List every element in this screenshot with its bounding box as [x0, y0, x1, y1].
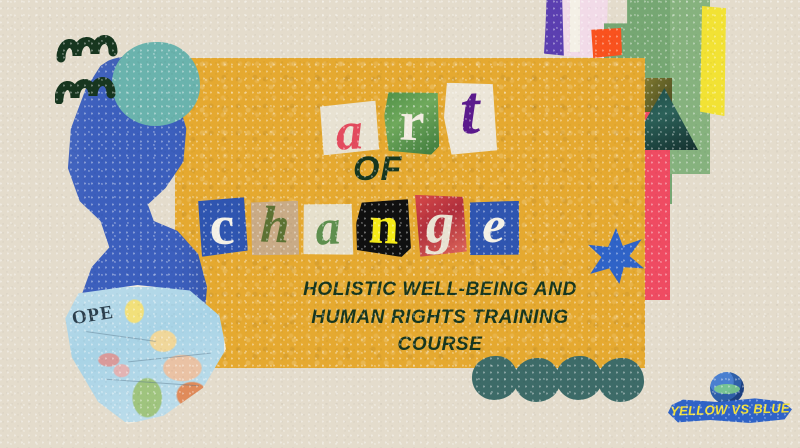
subtitle-text: HOLISTIC WELL-BEING AND HUMAN RIGHTS TRA…	[275, 276, 605, 359]
cutout-letter-e: e	[467, 199, 521, 257]
headline-word-art: a r t	[320, 78, 496, 154]
headline-group: a r t OF c h a n g	[175, 58, 645, 368]
cutout-letter-n: n	[355, 197, 414, 258]
subtitle-line-2: HUMAN RIGHTS TRAINING COURSE	[275, 304, 605, 359]
headline-word-of: OF	[353, 150, 402, 189]
poster-canvas: OPE a r t OF c h a n	[0, 0, 800, 448]
brand-logo: YELLOW VS BLUE	[668, 372, 792, 432]
squiggle-doodle-icon	[55, 14, 175, 104]
subtitle-line-1: HOLISTIC WELL-BEING AND	[275, 276, 605, 304]
collage-orange-square	[590, 28, 622, 58]
cutout-letter-a: a	[319, 101, 380, 156]
cutout-letter-g: g	[413, 193, 467, 257]
headline-word-change: c h a n g e	[197, 190, 520, 256]
cutout-letter-c: c	[196, 197, 248, 257]
map-label-text: OPE	[71, 302, 116, 330]
cutout-letter-t: t	[443, 81, 497, 155]
cutout-letter-h: h	[249, 199, 301, 257]
globe-icon	[710, 372, 744, 404]
cutout-letter-r: r	[383, 91, 441, 155]
cutout-letter-a2: a	[301, 201, 356, 258]
collage-white-strip	[570, 0, 580, 52]
collage-yellow-strip	[700, 6, 726, 116]
